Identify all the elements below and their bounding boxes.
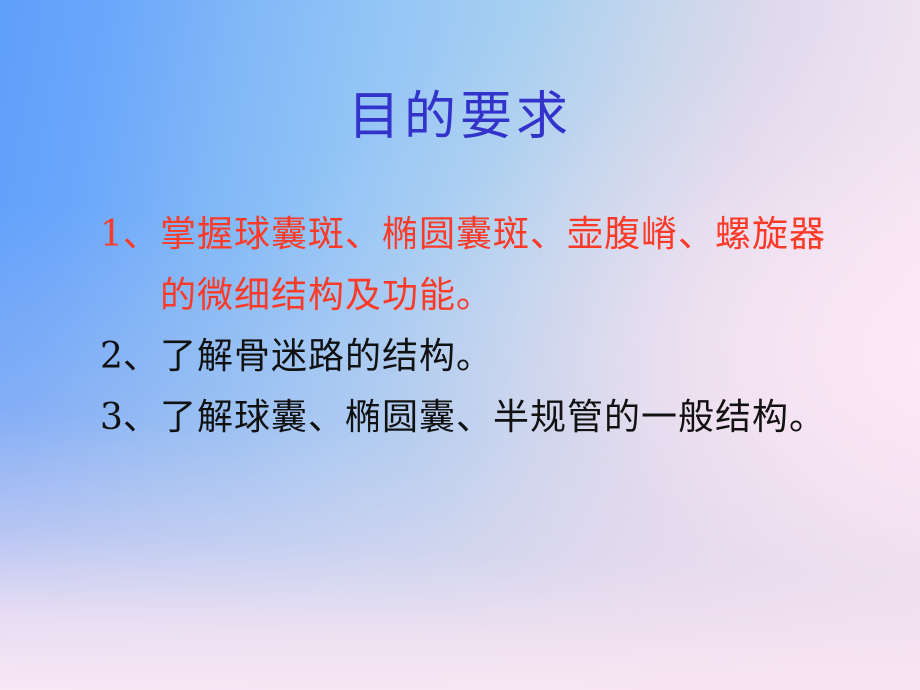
list-item-text: 了解骨迷路的结构。 (160, 326, 830, 387)
list-item-marker: 1、 (100, 204, 160, 265)
presentation-slide: 目的要求 1、 掌握球囊斑、椭圆囊斑、壶腹嵴、螺旋器的微细结构及功能。 2、 了… (0, 0, 920, 690)
list-item-text: 了解球囊、椭圆囊、半规管的一般结构。 (160, 387, 830, 448)
list-item-marker: 2、 (100, 326, 160, 387)
list-item: 3、 了解球囊、椭圆囊、半规管的一般结构。 (100, 387, 830, 448)
list-item: 1、 掌握球囊斑、椭圆囊斑、壶腹嵴、螺旋器的微细结构及功能。 (100, 204, 830, 326)
objectives-list: 1、 掌握球囊斑、椭圆囊斑、壶腹嵴、螺旋器的微细结构及功能。 2、 了解骨迷路的… (100, 204, 830, 448)
list-item-text: 掌握球囊斑、椭圆囊斑、壶腹嵴、螺旋器的微细结构及功能。 (160, 204, 830, 326)
list-item: 2、 了解骨迷路的结构。 (100, 326, 830, 387)
slide-content: 目的要求 1、 掌握球囊斑、椭圆囊斑、壶腹嵴、螺旋器的微细结构及功能。 2、 了… (0, 0, 920, 690)
slide-title: 目的要求 (0, 88, 920, 146)
list-item-marker: 3、 (100, 387, 160, 448)
